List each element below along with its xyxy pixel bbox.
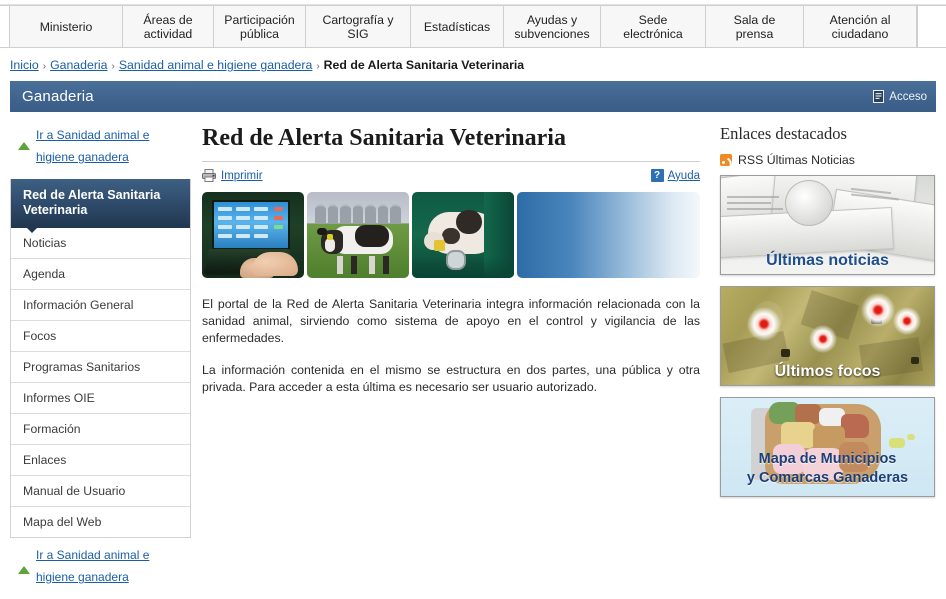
nav-item-cartografia-y-sig[interactable]: Cartografía y SIG [306,6,411,47]
sidebar-item-label: Formación [23,422,81,436]
print-link[interactable]: Imprimir [202,169,263,182]
menu-pointer-icon [27,228,37,233]
breadcrumb: Inicio›Ganaderia›Sanidad animal e higien… [0,48,946,81]
sidebar-item-label: Focos [23,329,56,343]
nav-item-atencion-al-ciudadano[interactable]: Atención al ciudadano [804,6,917,47]
sidebar-item-focos[interactable]: Focos [11,321,190,352]
outbreak-marker [747,307,781,341]
sidebar-item-label: Programas Sanitarios [23,360,140,374]
nav-label: Participación pública [224,13,295,41]
green-triangle-icon [18,142,30,150]
breadcrumb-separator: › [108,61,119,72]
outbreak-marker [861,293,895,327]
content-toolbar: Imprimir ? Ayuda [202,162,700,188]
lock-icon [873,90,884,103]
sidebar-item-label: Enlaces [23,453,66,467]
hand-right [252,252,298,276]
nav-label: Sede electrónica [611,13,695,41]
cow-ear-tag [327,234,333,240]
sidebar-item-enlaces[interactable]: Enlaces [11,445,190,476]
sidebar-item-manual-de-usuario[interactable]: Manual de Usuario [11,476,190,507]
main-navigation: Ministerio Áreas de actividad Participac… [0,5,946,48]
nav-item-estadisticas[interactable]: Estadísticas [411,6,504,47]
sidebar-menu-header: Red de Alerta Sanitaria Veterinaria [11,179,190,228]
sidebar-item-formacion[interactable]: Formación [11,414,190,445]
breadcrumb-item-inicio[interactable]: Inicio [10,58,39,72]
outbreak-marker [809,325,837,353]
section-banner-title: Ganaderia [10,88,94,105]
nav-label: Atención al ciudadano [814,13,906,41]
rss-icon [720,154,732,166]
intro-paragraph-1: El portal de la Red de Alerta Sanitaria … [202,296,700,347]
sidebar-item-label: Mapa del Web [23,515,101,529]
main-content: Red de Alerta Sanitaria Veterinaria Impr… [191,112,714,396]
nav-label: Cartografía y SIG [316,13,400,41]
card-ultimas-noticias[interactable]: Últimas noticias [720,175,935,275]
card-mapa-municipios-comarcas[interactable]: Mapa de Municipios y Comarcas Ganaderas [720,397,935,497]
nav-label: Ayudas y subvenciones [514,13,590,41]
page-title: Red de Alerta Sanitaria Veterinaria [202,112,700,162]
nav-right-spacer [917,6,946,47]
card-caption: Últimas noticias [721,251,934,270]
access-link[interactable]: Acceso [873,81,927,112]
sidebar-item-noticias[interactable]: Noticias [11,228,190,259]
help-label: Ayuda [668,170,700,182]
rss-link[interactable]: RSS Últimas Noticias [714,153,938,175]
breadcrumb-separator: › [39,61,50,72]
breadcrumb-item-ganaderia[interactable]: Ganaderia [50,58,107,72]
section-banner: Ganaderia Acceso [10,81,936,112]
sidebar-item-label: Información General [23,298,133,312]
sidebar-goto-top-label[interactable]: Ir a Sanidad animal e higiene ganadera [36,128,149,164]
card-ultimos-focos[interactable]: Últimos focos [720,286,935,386]
nav-item-sede-electronica[interactable]: Sede electrónica [601,6,706,47]
sidebar-menu-header-label: Red de Alerta Sanitaria Veterinaria [23,188,160,217]
nav-label: Ministerio [40,20,93,34]
page-root: Ministerio Áreas de actividad Participac… [0,0,946,593]
nav-item-sala-de-prensa[interactable]: Sala de prensa [706,6,804,47]
highlighted-links-title: Enlaces destacados [714,112,938,153]
sidebar-item-label: Agenda [23,267,65,281]
breadcrumb-item-sanidad-animal[interactable]: Sanidad animal e higiene ganadera [119,58,312,72]
hero-image-calf [412,192,514,278]
nav-item-ayudas-y-subvenciones[interactable]: Ayudas y subvenciones [504,6,601,47]
sidebar-item-label: Noticias [23,236,66,250]
sidebar-item-label: Manual de Usuario [23,484,125,498]
outbreak-marker [893,307,921,335]
laptop-screen [212,200,290,250]
hero-image-strip [202,192,700,278]
intro-paragraph-2: La información contenida en el mismo se … [202,362,700,396]
sidebar-item-label: Informes OIE [23,391,95,405]
sidebar-goto-top[interactable]: Ir a Sanidad animal e higiene ganadera [10,112,191,179]
card-caption-line1: Mapa de Municipios [721,450,934,469]
rss-label: RSS Últimas Noticias [738,153,855,167]
nav-label: Sala de prensa [716,13,793,41]
card-caption: Últimos focos [721,362,934,381]
cow-patch [355,225,389,247]
nav-item-areas-de-actividad[interactable]: Áreas de actividad [123,6,214,47]
hero-image-laptop [202,192,304,278]
sidebar-item-informes-oie[interactable]: Informes OIE [11,383,190,414]
card-caption: Mapa de Municipios y Comarcas Ganaderas [721,450,934,488]
sidebar: Ir a Sanidad animal e higiene ganadera R… [0,112,191,599]
help-link[interactable]: ? Ayuda [651,169,700,182]
question-mark-icon: ? [651,169,664,182]
breadcrumb-current: Red de Alerta Sanitaria Veterinaria [324,58,524,72]
sidebar-item-agenda[interactable]: Agenda [11,259,190,290]
sidebar-item-informacion-general[interactable]: Información General [11,290,190,321]
printer-icon [202,169,216,182]
sidebar-item-mapa-del-web[interactable]: Mapa del Web [11,507,190,537]
hero-image-cow [307,192,409,278]
calf-ear-tag [434,240,445,251]
aqueduct [315,204,401,224]
nav-item-participacion-publica[interactable]: Participación pública [214,6,306,47]
hero-gradient-panel [517,192,700,278]
nav-label: Áreas de actividad [133,13,203,41]
breadcrumb-separator: › [312,61,323,72]
card-caption-line2: y Comarcas Ganaderas [721,469,934,488]
sidebar-goto-bottom-label[interactable]: Ir a Sanidad animal e higiene ganadera [36,548,149,584]
print-label: Imprimir [221,170,263,182]
nav-item-ministerio[interactable]: Ministerio [10,6,123,47]
highlighted-links-column: Enlaces destacados RSS Últimas Noticias [714,112,946,508]
sidebar-item-programas-sanitarios[interactable]: Programas Sanitarios [11,352,190,383]
content-columns: Ir a Sanidad animal e higiene ganadera R… [0,112,946,599]
sidebar-menu: Red de Alerta Sanitaria Veterinaria Noti… [10,179,191,538]
nav-left-spacer [0,6,10,47]
green-triangle-icon [18,566,30,574]
access-label: Acceso [889,91,927,103]
sidebar-goto-bottom[interactable]: Ir a Sanidad animal e higiene ganadera [10,540,191,599]
nav-label: Estadísticas [424,20,490,34]
